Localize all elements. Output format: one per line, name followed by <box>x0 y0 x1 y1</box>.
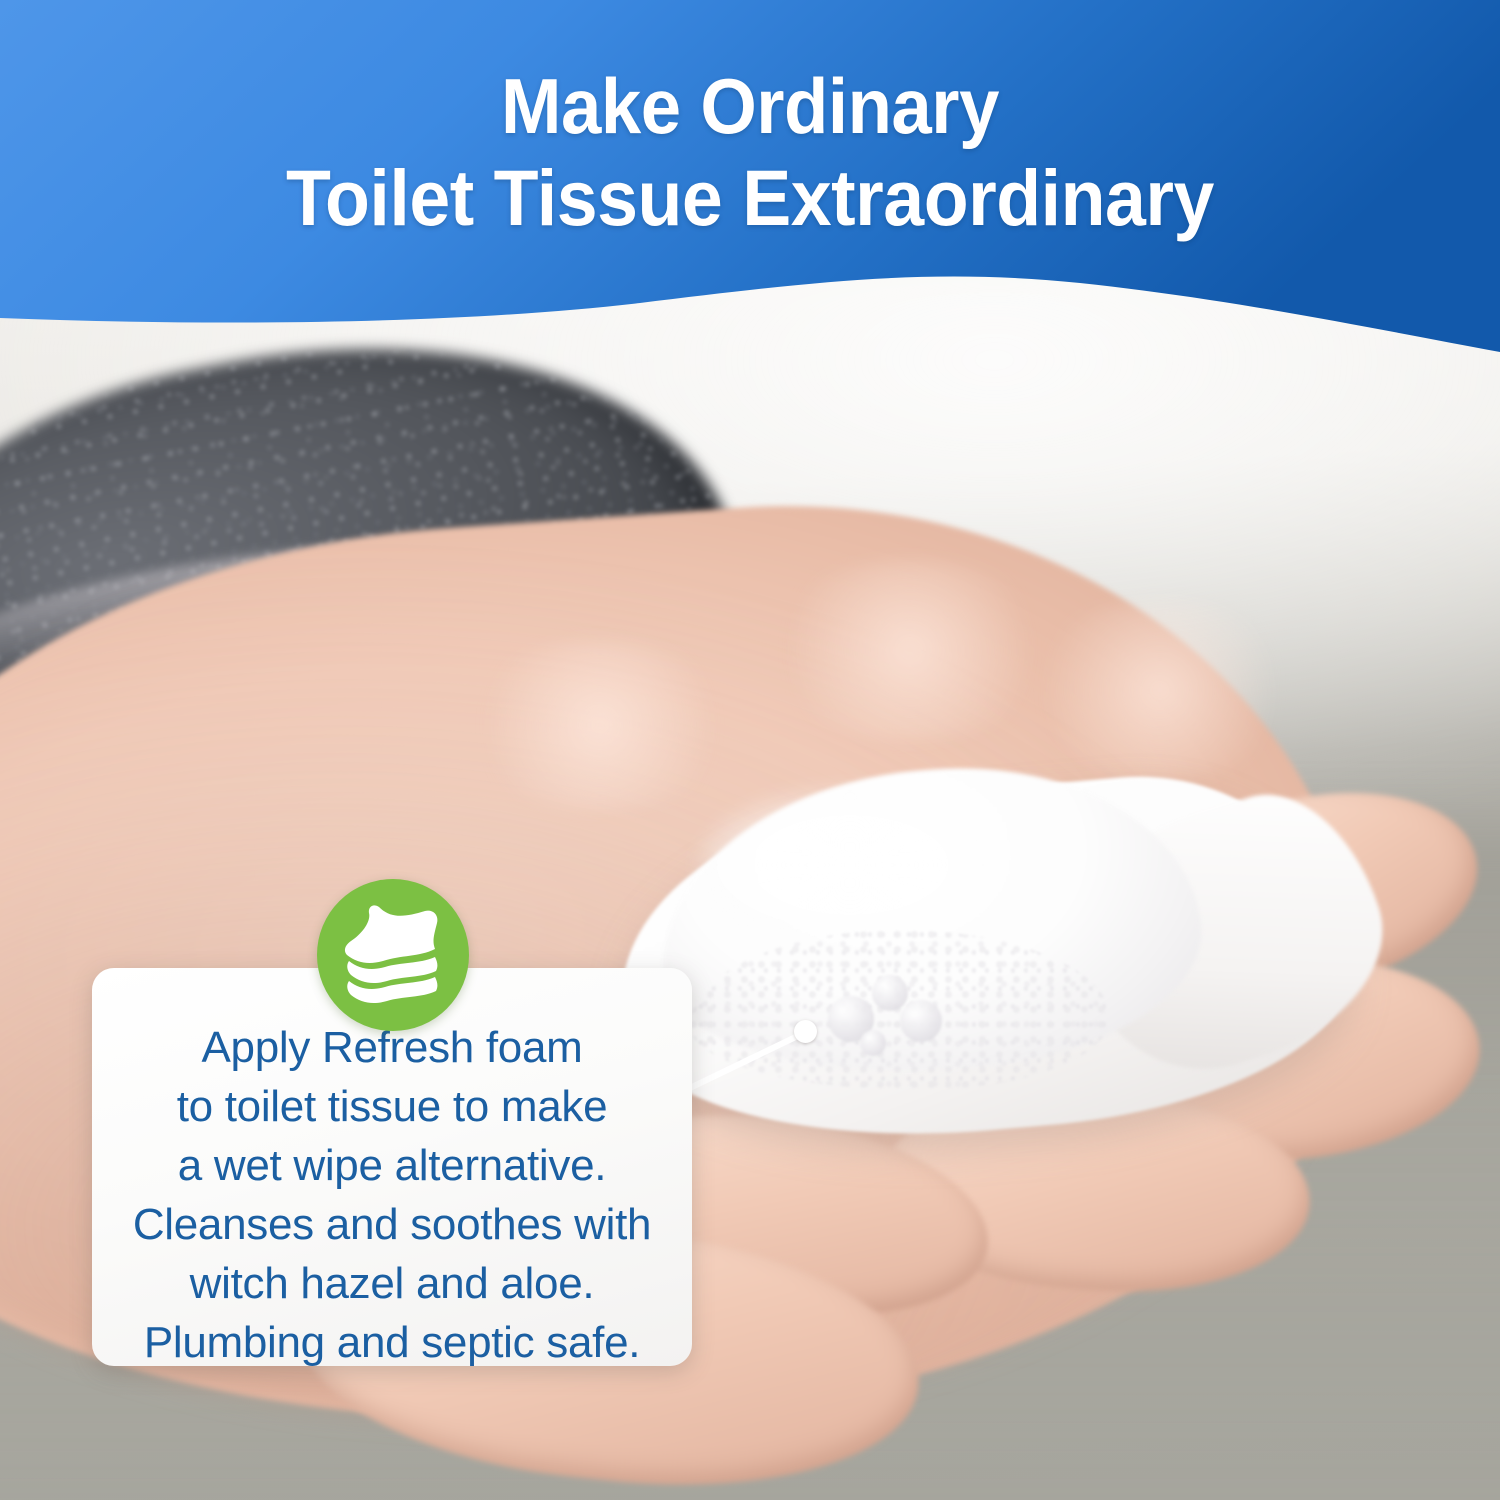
callout-text: Apply Refresh foam to toilet tissue to m… <box>92 1018 692 1372</box>
callout-text-line: to toilet tissue to make <box>92 1077 692 1136</box>
callout-text-line: Cleanses and soothes with <box>92 1195 692 1254</box>
callout-text-line: witch hazel and aloe. <box>92 1254 692 1313</box>
callout-text-line: Plumbing and septic safe. <box>92 1313 692 1372</box>
tissue-stack-icon <box>339 905 447 1005</box>
tissue-stack-badge <box>317 879 469 1031</box>
callout-text-line: a wet wipe alternative. <box>92 1136 692 1195</box>
callout-endpoint-dot <box>794 1020 817 1043</box>
product-infographic: Make Ordinary Toilet Tissue Extraordinar… <box>0 0 1500 1500</box>
